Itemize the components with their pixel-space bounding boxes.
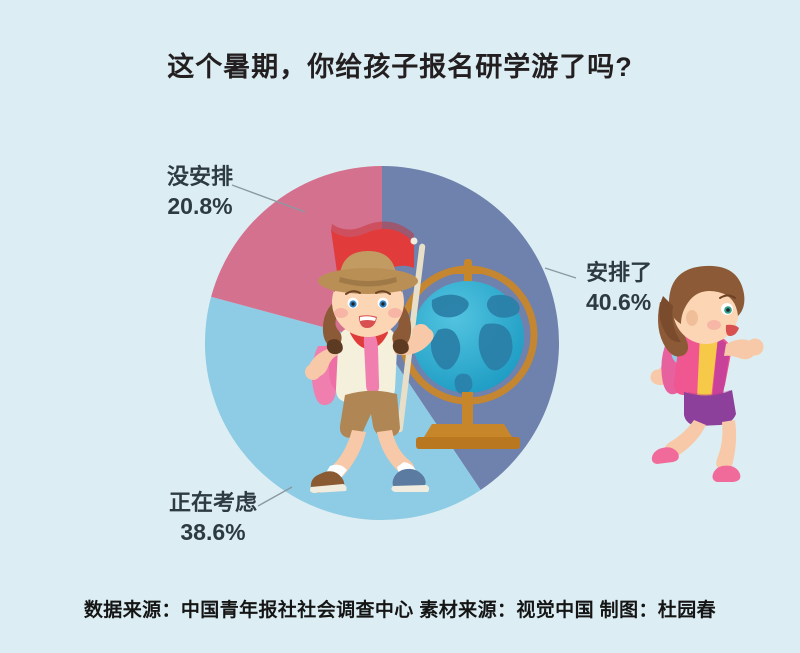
footer-credits: 数据来源：中国青年报社社会调查中心 素材来源：视觉中国 制图：杜园春 (0, 595, 800, 622)
callout-considering-category: 正在考虑 (148, 488, 278, 517)
callout-planned-category: 安排了 (586, 258, 706, 287)
infographic-canvas: 这个暑期，你给孩子报名研学游了吗? (0, 0, 800, 653)
callout-planned-percent: 40.6% (586, 287, 706, 317)
callout-considering: 正在考虑 38.6% (148, 488, 278, 547)
callout-not-planned-category: 没安排 (148, 162, 252, 191)
callout-not-planned-percent: 20.8% (148, 191, 252, 221)
callout-planned: 安排了 40.6% (586, 258, 706, 317)
pie-chart-area: 没安排 20.8% 安排了 40.6% 正在考虑 38.6% (0, 0, 800, 575)
leader-line-planned (545, 268, 576, 278)
callout-considering-percent: 38.6% (148, 517, 278, 547)
callout-not-planned: 没安排 20.8% (148, 162, 252, 221)
